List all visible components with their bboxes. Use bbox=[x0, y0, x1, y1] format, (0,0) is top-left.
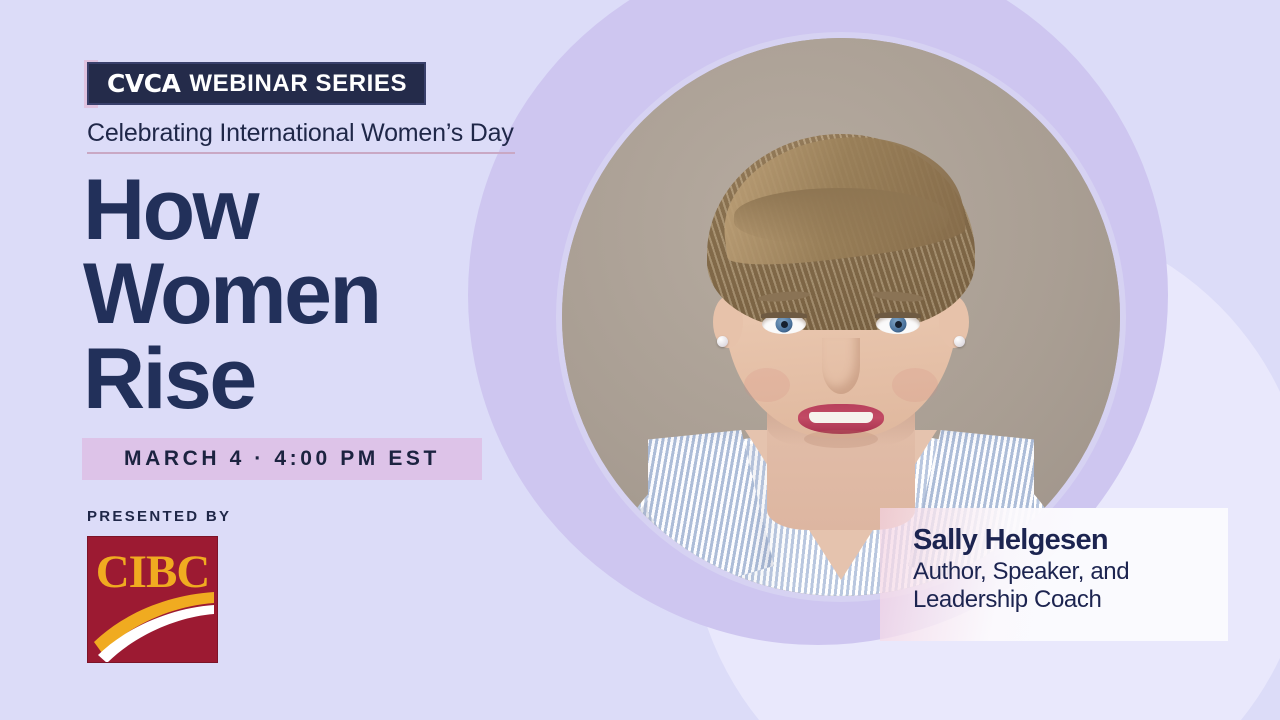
date-time-text: MARCH 4 · 4:00 PM EST bbox=[124, 447, 440, 471]
cibc-logo: CIBC bbox=[87, 536, 218, 663]
eyelash-right bbox=[875, 312, 921, 318]
speaker-role: Author, Speaker, and Leadership Coach bbox=[913, 558, 1228, 614]
page-title: How Women Rise bbox=[83, 168, 379, 421]
iris-right bbox=[890, 316, 907, 333]
earring-left bbox=[717, 336, 728, 347]
teeth bbox=[809, 412, 873, 423]
hair-fringe bbox=[734, 188, 948, 244]
speaker-info-card: Sally Helgesen Author, Speaker, and Lead… bbox=[880, 508, 1228, 641]
chin-shading bbox=[804, 430, 878, 448]
left-content-column: CVCA WEBINAR SERIES Celebrating Internat… bbox=[87, 0, 527, 720]
webinar-series-label: WEBINAR SERIES bbox=[189, 70, 407, 98]
title-line-1: How bbox=[83, 168, 379, 252]
pupil-left bbox=[781, 321, 788, 328]
cheek-left bbox=[744, 368, 790, 402]
speaker-name: Sally Helgesen bbox=[913, 525, 1228, 557]
iris-left bbox=[776, 316, 793, 333]
date-time-band: MARCH 4 · 4:00 PM EST bbox=[82, 438, 482, 480]
earring-right bbox=[954, 336, 965, 347]
title-line-3: Rise bbox=[83, 337, 379, 421]
speaker-role-line-2: Leadership Coach bbox=[913, 586, 1228, 614]
event-subtitle: Celebrating International Women’s Day bbox=[87, 119, 514, 148]
pupil-right bbox=[895, 321, 902, 328]
cvca-logo-text: CVCA bbox=[107, 69, 180, 98]
presented-by-label: PRESENTED BY bbox=[87, 508, 231, 525]
subtitle-divider bbox=[87, 152, 515, 154]
cvca-webinar-series-banner: CVCA WEBINAR SERIES bbox=[87, 62, 426, 105]
speaker-role-line-1: Author, Speaker, and bbox=[913, 558, 1228, 586]
cheek-right bbox=[892, 368, 938, 402]
nose bbox=[822, 338, 860, 394]
title-line-2: Women bbox=[83, 252, 379, 336]
webinar-promo-graphic: CVCA WEBINAR SERIES Celebrating Internat… bbox=[0, 0, 1280, 720]
eyelash-left bbox=[761, 312, 807, 318]
cibc-swoosh-icon bbox=[88, 537, 218, 663]
